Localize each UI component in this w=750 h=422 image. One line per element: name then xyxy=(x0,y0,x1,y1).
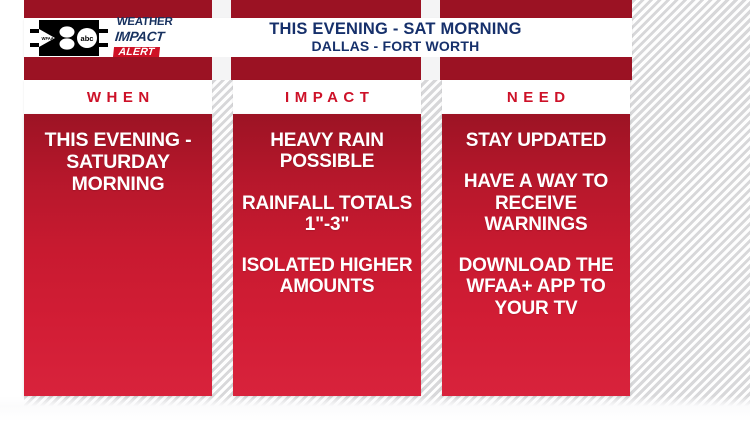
alert-columns: WHEN THIS EVENING - SATURDAY MORNING IMP… xyxy=(24,80,632,396)
column-impact-header: IMPACT xyxy=(233,80,421,114)
when-block-1: THIS EVENING - SATURDAY MORNING xyxy=(31,130,205,195)
need-block-1: STAY UPDATED xyxy=(449,130,623,151)
badge-line-weather: WEATHER xyxy=(116,17,173,29)
impact-block-2: RAINFALL TOTALS 1"-3" xyxy=(240,193,414,236)
header-band: WFAA abc WEATHER IMPACT ALERT THIS EVENI… xyxy=(24,18,632,57)
column-when-heading-label: WHEN xyxy=(81,89,154,106)
need-block-2: HAVE A WAY TO RECEIVE WARNINGS xyxy=(449,171,623,235)
column-when-body: THIS EVENING - SATURDAY MORNING xyxy=(24,114,212,396)
impact-block-3: ISOLATED HIGHER AMOUNTS xyxy=(240,255,414,298)
column-need-header: NEED xyxy=(442,80,630,114)
column-impact-heading-label: IMPACT xyxy=(280,89,375,106)
column-need-heading-label: NEED xyxy=(501,89,570,106)
svg-text:abc: abc xyxy=(81,34,94,43)
column-when-header: WHEN xyxy=(24,80,212,114)
weather-alert-graphic: WFAA abc WEATHER IMPACT ALERT THIS EVENI… xyxy=(0,0,750,422)
headline-title: THIS EVENING - SAT MORNING xyxy=(173,21,618,38)
top-red-bar xyxy=(24,0,632,18)
wfaa-logo: WFAA abc xyxy=(30,20,108,56)
bottom-margin xyxy=(0,396,750,422)
weather-impact-alert-badge: WEATHER IMPACT ALERT xyxy=(113,17,173,59)
badge-line-impact: IMPACT xyxy=(114,29,171,43)
logo-mark-icon: WFAA abc xyxy=(33,23,105,53)
column-when: WHEN THIS EVENING - SATURDAY MORNING xyxy=(24,80,212,396)
column-seam-2 xyxy=(421,57,440,80)
column-need-body: STAY UPDATED HAVE A WAY TO RECEIVE WARNI… xyxy=(442,114,630,396)
column-seam-1 xyxy=(212,57,231,80)
column-seam-2 xyxy=(421,0,440,18)
headline-subtitle: DALLAS - FORT WORTH xyxy=(173,39,618,54)
sub-red-bar xyxy=(24,57,632,80)
impact-block-1: HEAVY RAIN POSSIBLE xyxy=(240,130,414,173)
headline-group: THIS EVENING - SAT MORNING DALLAS - FORT… xyxy=(171,21,632,54)
column-seam-1 xyxy=(212,0,231,18)
column-impact-body: HEAVY RAIN POSSIBLE RAINFALL TOTALS 1"-3… xyxy=(233,114,421,396)
svg-text:WFAA: WFAA xyxy=(42,36,54,41)
left-margin xyxy=(0,0,24,422)
need-block-3: DOWNLOAD THE WFAA+ APP TO YOUR TV xyxy=(449,255,623,319)
column-impact: IMPACT HEAVY RAIN POSSIBLE RAINFALL TOTA… xyxy=(233,80,421,396)
column-need: NEED STAY UPDATED HAVE A WAY TO RECEIVE … xyxy=(442,80,630,396)
